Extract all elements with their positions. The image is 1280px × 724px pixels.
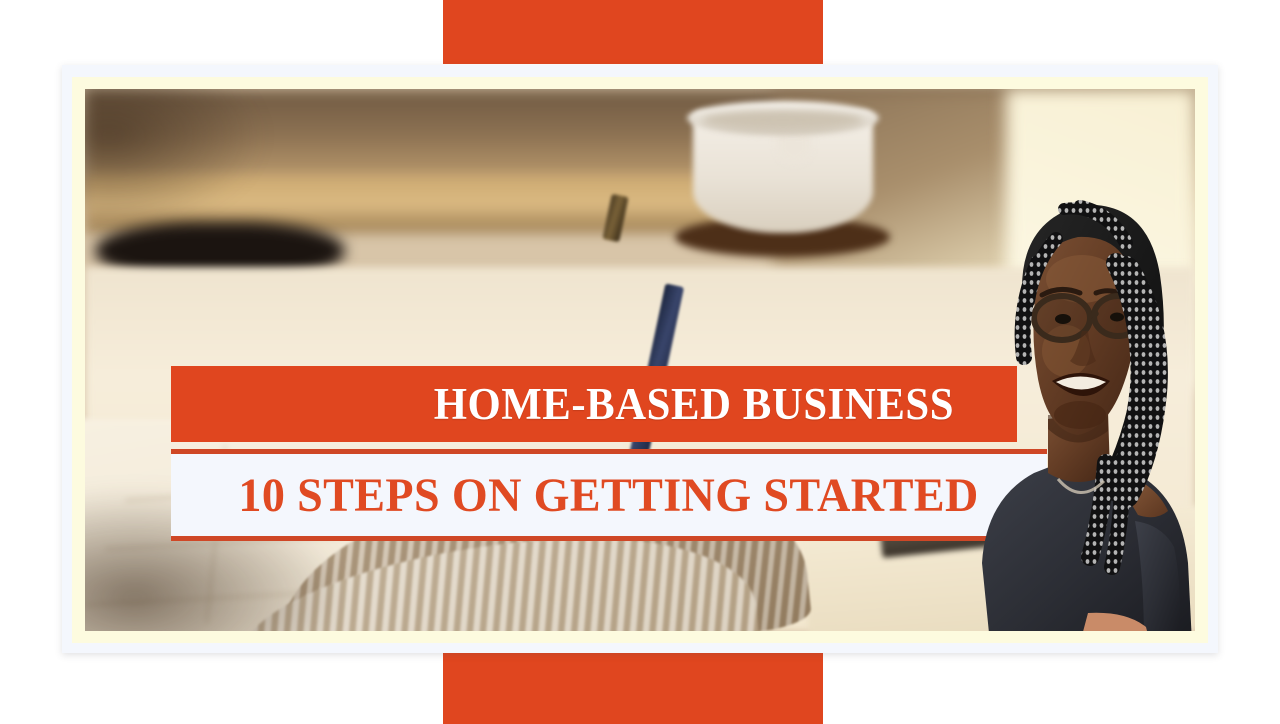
orange-tab-bottom	[443, 652, 823, 724]
headline-banner: HOME-BASED BUSINESS	[171, 366, 1017, 442]
photo-shadow-top-left	[85, 89, 265, 229]
presenter-photo	[930, 143, 1195, 631]
slide-card: HOME-BASED BUSINESS 10 STEPS ON GETTING …	[62, 65, 1218, 653]
background-photo: HOME-BASED BUSINESS 10 STEPS ON GETTING …	[85, 89, 1195, 631]
coffee-cup-interior	[703, 110, 863, 130]
subheadline-banner: 10 STEPS ON GETTING STARTED	[171, 449, 1047, 541]
cream-mat-border: HOME-BASED BUSINESS 10 STEPS ON GETTING …	[72, 77, 1208, 643]
slide-canvas: HOME-BASED BUSINESS 10 STEPS ON GETTING …	[0, 0, 1280, 720]
subheadline-text: 10 STEPS ON GETTING STARTED	[239, 468, 979, 523]
orange-tab-top	[443, 0, 823, 64]
